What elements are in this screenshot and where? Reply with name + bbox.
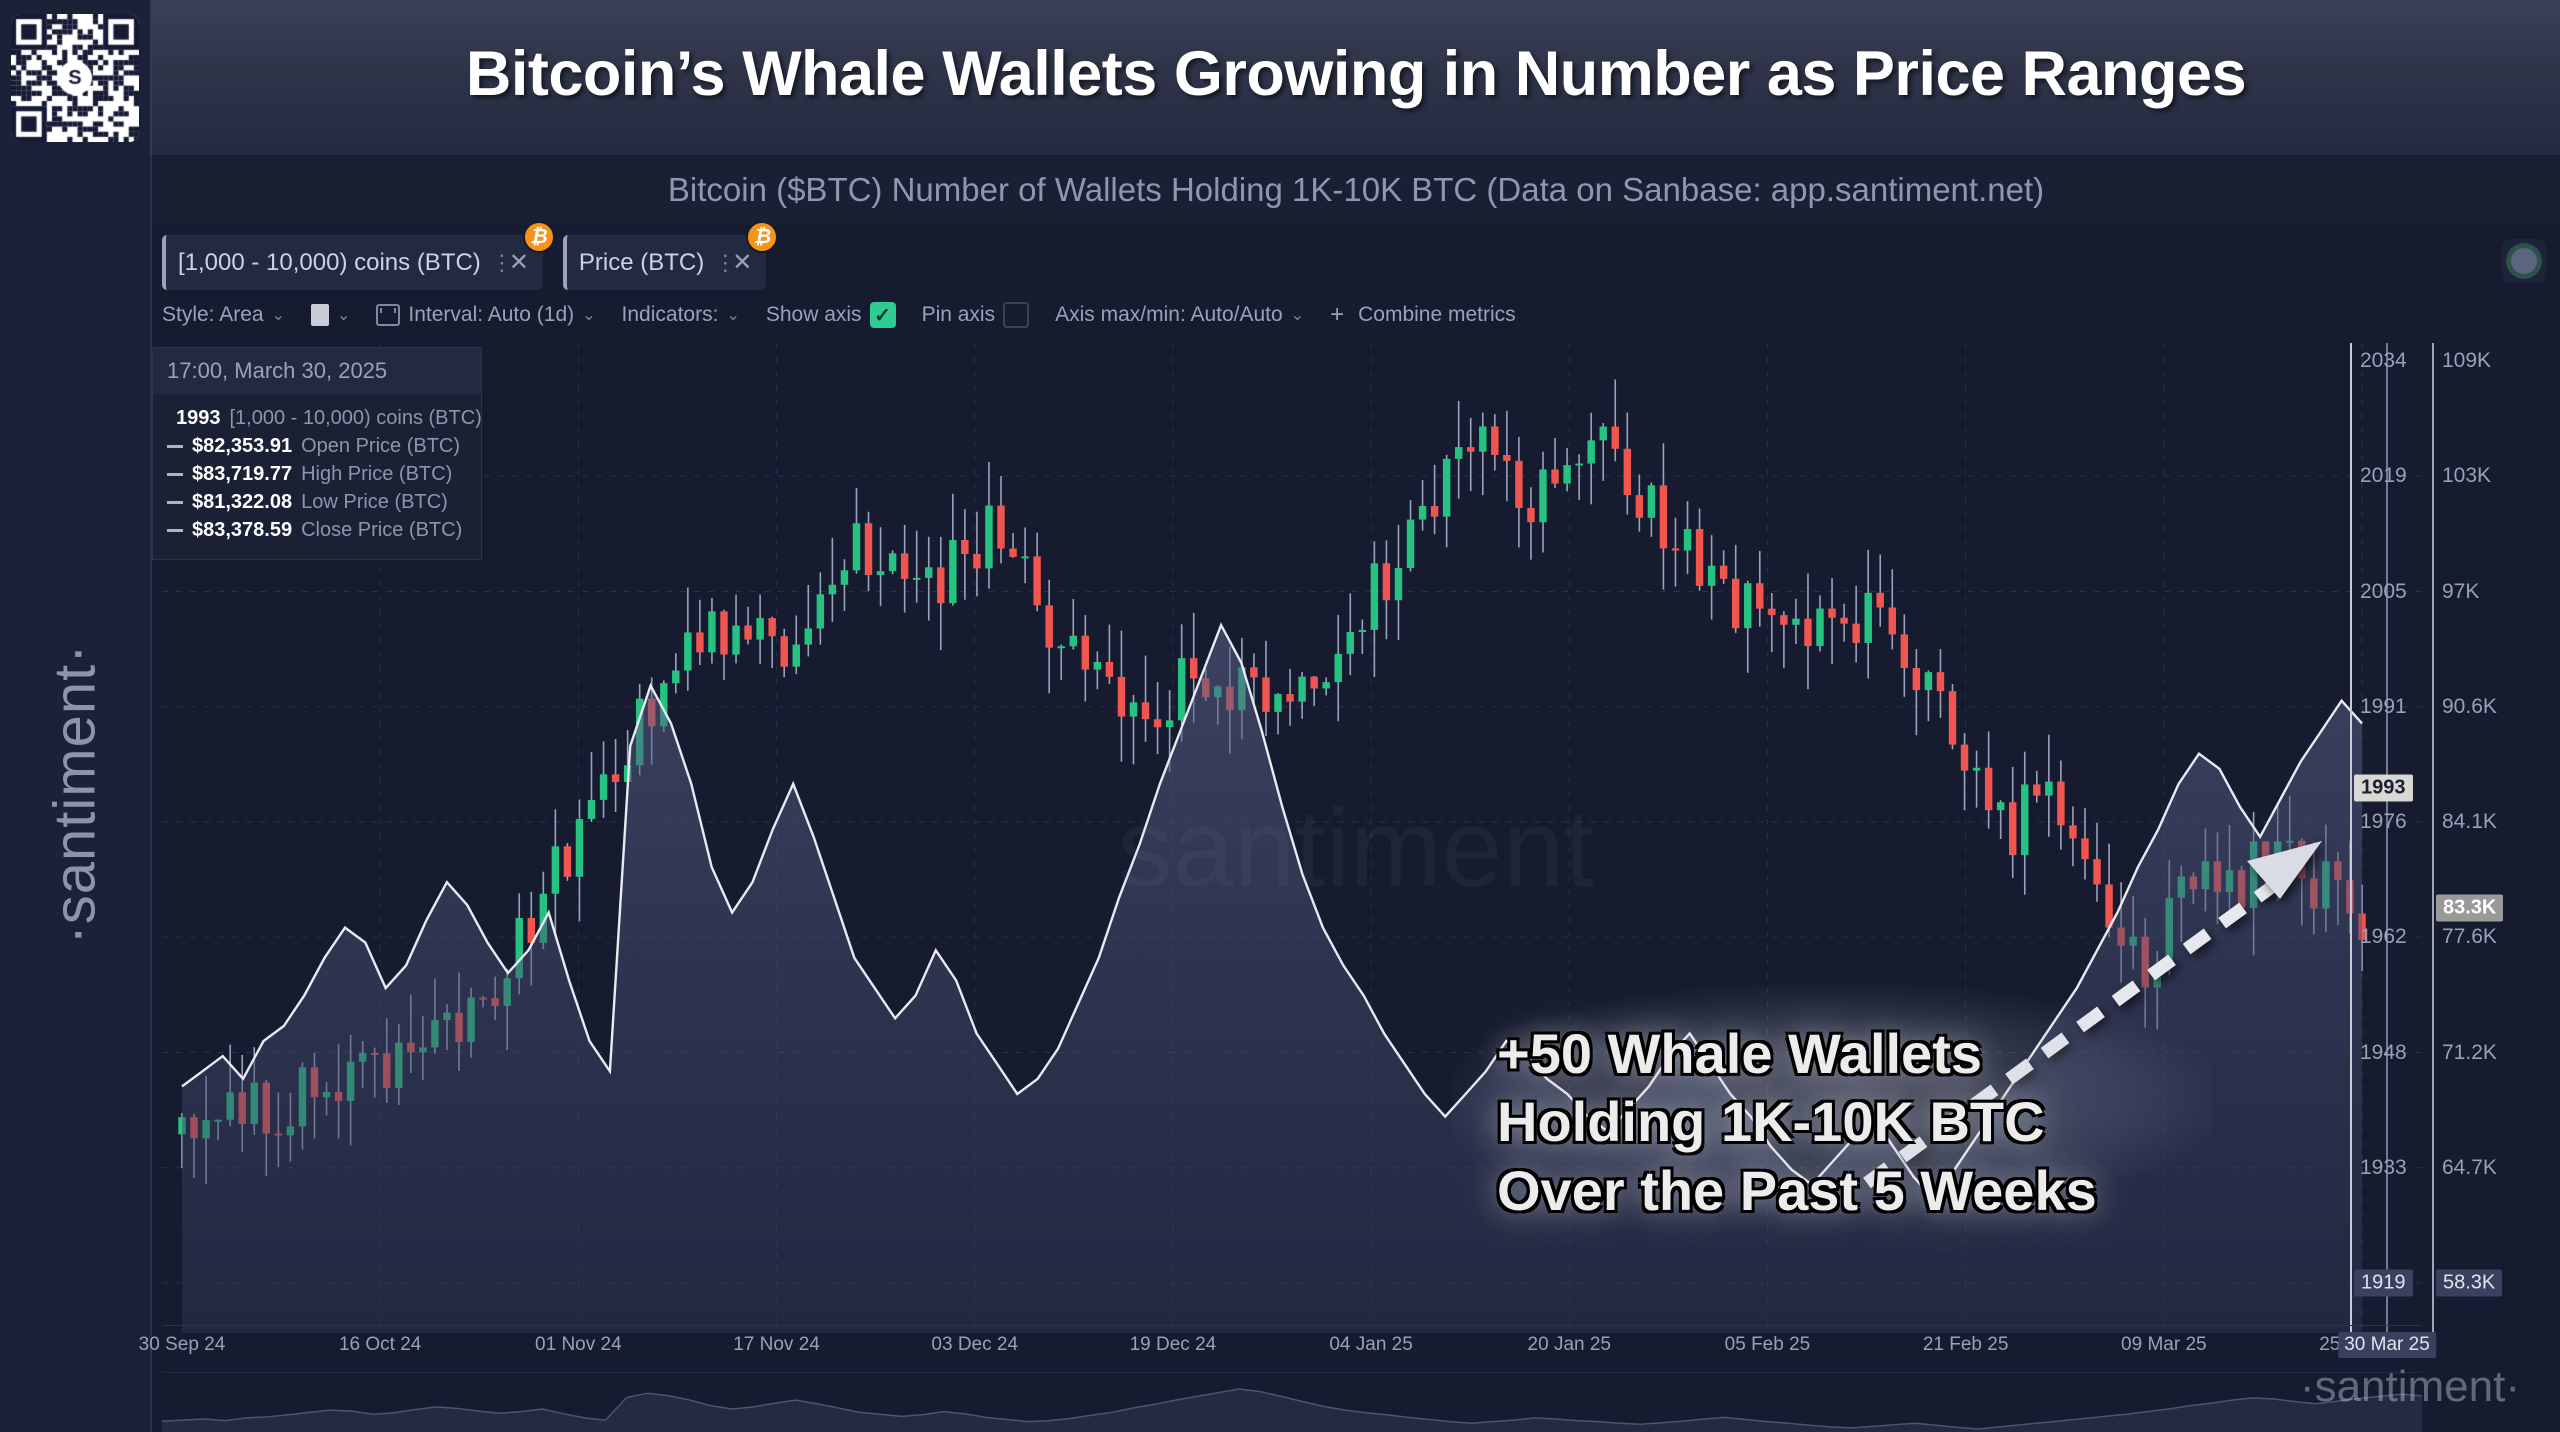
tooltip-rows: 1993 [1,000 - 10,000) coins (BTC) $82,35… [153,394,481,559]
legend-dash-icon [167,473,183,476]
chart-minimap[interactable] [162,1372,2422,1432]
right-value-axis[interactable]: 109K103K97K90.6K84.1K77.6K71.2K64.7K58.3… [2432,343,2552,1333]
candles-icon [376,304,400,326]
x-axis-tick-label: 01 Nov 24 [535,1334,622,1356]
left-axis-line [2350,343,2352,1333]
x-axis-tick-label: 21 Feb 25 [1923,1334,2009,1356]
metric-tab-label: [1,000 - 10,000) coins (BTC) [178,249,481,277]
x-axis-tick-label: 19 Dec 24 [1130,1334,1217,1356]
axis-minmax-label: Axis max/min: Auto/Auto [1055,303,1283,327]
left-value-axis[interactable]: 2034201920051991197619621948193319191993… [2350,343,2430,1333]
x-axis-tick-label: 16 Oct 24 [339,1334,421,1356]
axis-tick-label: 1991 [2360,695,2407,719]
right-axis-current-value: 83.3K [2436,895,2503,922]
tooltip-value: $82,353.91 [192,435,292,458]
tooltip-series-name: High Price (BTC) [301,463,452,486]
right-axis-line [2432,343,2434,1333]
axis-tick-label: 1933 [2360,1156,2407,1180]
chevron-down-icon: ⌄ [582,305,595,325]
indicators-label: Indicators: [622,303,719,327]
tooltip-value: $83,719.77 [192,463,292,486]
annotation-line-2: Holding 1K-10K BTC [1497,1088,2097,1156]
bitcoin-icon: ₿ [523,221,555,253]
interval-dropdown[interactable]: Interval: Auto (1d) ⌄ [376,303,595,327]
axis-tick-label: 109K [2442,349,2491,373]
right-axis-bottom-value: 58.3K [2436,1270,2502,1297]
show-axis-label: Show axis [766,303,862,327]
x-axis-tick-label: 05 Feb 25 [1725,1334,1811,1356]
annotation-line-3: Over the Past 5 Weeks [1497,1157,2097,1225]
pin-axis-checkbox[interactable] [1003,302,1029,328]
combine-metrics-label: Combine metrics [1358,303,1516,327]
pin-axis-label: Pin axis [922,303,996,327]
axis-tick-label: 103K [2442,464,2491,488]
chart-app: [1,000 - 10,000) coins (BTC) ⋮ ✕ ₿ Price… [152,225,2560,1432]
axis-tick-label: 71.2K [2442,1041,2497,1065]
annotation-callout: +50 Whale Wallets Holding 1K-10K BTC Ove… [1497,1020,2097,1225]
x-axis-tick-label: 03 Dec 24 [931,1334,1018,1356]
axis-tick-label: 1962 [2360,925,2407,949]
style-label: Style: Area [162,303,264,327]
metric-tab-price[interactable]: Price (BTC) ⋮ ✕ ₿ [563,235,766,290]
x-axis-tick-label: 17 Nov 24 [733,1334,820,1356]
tooltip-series-name: [1,000 - 10,000) coins (BTC) [230,407,482,430]
left-axis-bottom-value: 1919 [2354,1270,2413,1297]
legend-dash-icon [167,529,183,532]
x-axis-tick-label: 09 Mar 25 [2121,1334,2207,1356]
axis-tick-label: 2034 [2360,349,2407,373]
interval-label: Interval: Auto (1d) [408,303,574,327]
axis-tick-label: 77.6K [2442,925,2497,949]
metric-tabs: [1,000 - 10,000) coins (BTC) ⋮ ✕ ₿ Price… [162,235,766,290]
axis-tick-label: 90.6K [2442,695,2497,719]
x-axis-tick-label: 30 Sep 24 [139,1334,226,1356]
chevron-down-icon: ⌄ [337,305,350,325]
axis-tick-label: 1976 [2360,810,2407,834]
axis-tick-label: 84.1K [2442,810,2497,834]
chevron-down-icon: ⌄ [272,305,285,325]
tooltip-row: $83,378.59 Close Price (BTC) [167,519,467,542]
x-axis-crosshair-label: 30 Mar 25 [2338,1332,2436,1358]
page-title: Bitcoin’s Whale Wallets Growing in Numbe… [152,0,2560,155]
style-dropdown[interactable]: Style: Area ⌄ [162,303,285,327]
left-rail: ·santiment· [0,155,152,1432]
center-watermark: santiment [1118,785,1595,912]
tooltip-timestamp: 17:00, March 30, 2025 [153,348,481,394]
chart-tooltip: 17:00, March 30, 2025 1993 [1,000 - 10,0… [152,347,482,560]
tab-menu-icon[interactable]: ⋮ [714,258,722,268]
axis-tick-label: 1948 [2360,1041,2407,1065]
tooltip-series-name: Close Price (BTC) [301,519,462,542]
tooltip-value: $81,322.08 [192,491,292,514]
tooltip-series-name: Open Price (BTC) [301,435,460,458]
tooltip-row: 1993 [1,000 - 10,000) coins (BTC) [167,407,467,430]
color-swatch-icon [311,304,329,326]
rail-watermark: ·santiment· [42,643,109,944]
header-band: Bitcoin’s Whale Wallets Growing in Numbe… [0,0,2560,155]
legend-dash-icon [167,501,183,504]
metric-tab-label: Price (BTC) [579,249,704,277]
qr-code-icon[interactable] [11,14,139,142]
tooltip-row: $82,353.91 Open Price (BTC) [167,435,467,458]
x-axis-tick-label: 20 Jan 25 [1528,1334,1611,1356]
tab-close-icon[interactable]: ✕ [732,248,752,277]
legend-dash-icon [167,445,183,448]
indicators-dropdown[interactable]: Indicators: ⌄ [622,303,740,327]
qr-code-container[interactable] [0,0,152,155]
combine-metrics-button[interactable]: + Combine metrics [1330,301,1516,329]
show-axis-checkbox[interactable]: ✓ [870,302,896,328]
axis-tick-label: 64.7K [2442,1156,2497,1180]
tooltip-value: 1993 [176,407,221,430]
bitcoin-icon: ₿ [746,221,778,253]
axis-tick-label: 2019 [2360,464,2407,488]
tab-menu-icon[interactable]: ⋮ [491,258,499,268]
corner-logo: ·santiment· [2300,1362,2520,1412]
axis-minmax-dropdown[interactable]: Axis max/min: Auto/Auto ⌄ [1055,303,1304,327]
tooltip-row: $81,322.08 Low Price (BTC) [167,491,467,514]
x-axis-tick-label: 04 Jan 25 [1329,1334,1412,1356]
left-axis-current-value: 1993 [2354,775,2413,802]
status-indicator-button[interactable] [2502,239,2546,283]
tooltip-series-name: Low Price (BTC) [301,491,448,514]
page-subtitle: Bitcoin ($BTC) Number of Wallets Holding… [152,155,2560,225]
chart-toolbar: Style: Area ⌄ ⌄ Interval: Auto (1d) ⌄ In… [162,297,1542,333]
screenshot-root: Bitcoin’s Whale Wallets Growing in Numbe… [0,0,2560,1432]
axis-tick-label: 97K [2442,580,2479,604]
metric-tab-wallets[interactable]: [1,000 - 10,000) coins (BTC) ⋮ ✕ ₿ [162,235,543,290]
annotation-line-1: +50 Whale Wallets [1497,1020,2097,1088]
plus-icon: + [1330,301,1344,329]
tab-close-icon[interactable]: ✕ [509,248,529,277]
pin-axis-toggle[interactable]: Pin axis [922,302,1030,328]
chevron-down-icon: ⌄ [726,305,739,325]
chevron-down-icon: ⌄ [1291,305,1304,325]
status-dot-icon [2511,248,2537,274]
x-axis[interactable]: 30 Sep 2416 Oct 2401 Nov 2417 Nov 2403 D… [162,1325,2422,1365]
axis-tick-label: 2005 [2360,580,2407,604]
tooltip-value: $83,378.59 [192,519,292,542]
tooltip-row: $83,719.77 High Price (BTC) [167,463,467,486]
color-dropdown[interactable]: ⌄ [311,304,350,326]
show-axis-toggle[interactable]: Show axis ✓ [766,302,896,328]
